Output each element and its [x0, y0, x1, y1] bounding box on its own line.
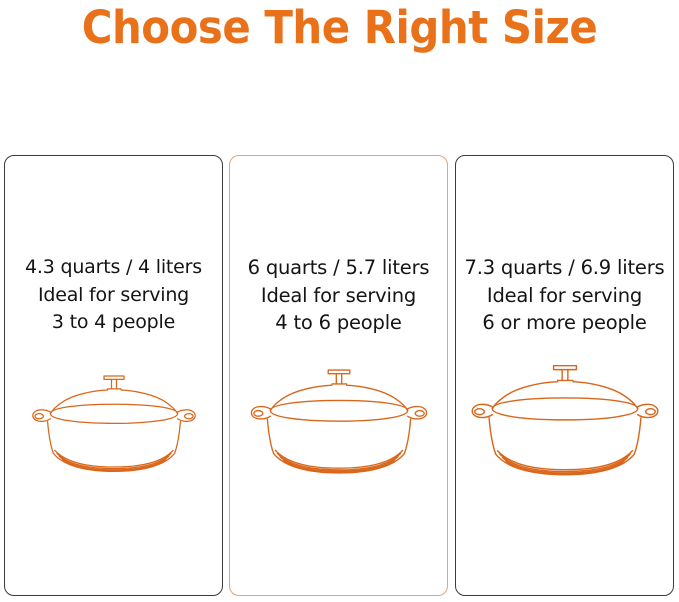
- size-card-small[interactable]: 4.3 quarts / 4 liters Ideal for serving …: [4, 155, 223, 596]
- capacity-label: 7.3 quarts / 6.9 liters: [456, 254, 673, 282]
- page-title: Choose The Right Size: [24, 0, 655, 58]
- dutch-oven-pot-icon: [25, 364, 203, 476]
- size-card-large[interactable]: 7.3 quarts / 6.9 liters Ideal for servin…: [455, 155, 674, 596]
- serving-count-label: 6 or more people: [456, 309, 673, 337]
- serving-label: Ideal for serving: [230, 282, 447, 310]
- dutch-oven-pot-icon: [243, 357, 435, 478]
- capacity-label: 6 quarts / 5.7 liters: [230, 254, 447, 282]
- serving-label: Ideal for serving: [456, 282, 673, 310]
- dutch-oven-pot-icon: [463, 352, 667, 480]
- capacity-label: 4.3 quarts / 4 liters: [5, 254, 222, 282]
- pot-illustration-wrap: [230, 357, 447, 478]
- size-card-medium[interactable]: 6 quarts / 5.7 liters Ideal for serving …: [229, 155, 448, 596]
- serving-label: Ideal for serving: [5, 282, 222, 310]
- size-card-text: 7.3 quarts / 6.9 liters Ideal for servin…: [456, 254, 673, 337]
- serving-count-label: 4 to 6 people: [230, 309, 447, 337]
- pot-illustration-wrap: [5, 364, 222, 476]
- size-card-list: 4.3 quarts / 4 liters Ideal for serving …: [0, 155, 679, 598]
- size-card-text: 4.3 quarts / 4 liters Ideal for serving …: [5, 254, 222, 337]
- serving-count-label: 3 to 4 people: [5, 309, 222, 337]
- size-card-text: 6 quarts / 5.7 liters Ideal for serving …: [230, 254, 447, 337]
- pot-illustration-wrap: [456, 352, 673, 480]
